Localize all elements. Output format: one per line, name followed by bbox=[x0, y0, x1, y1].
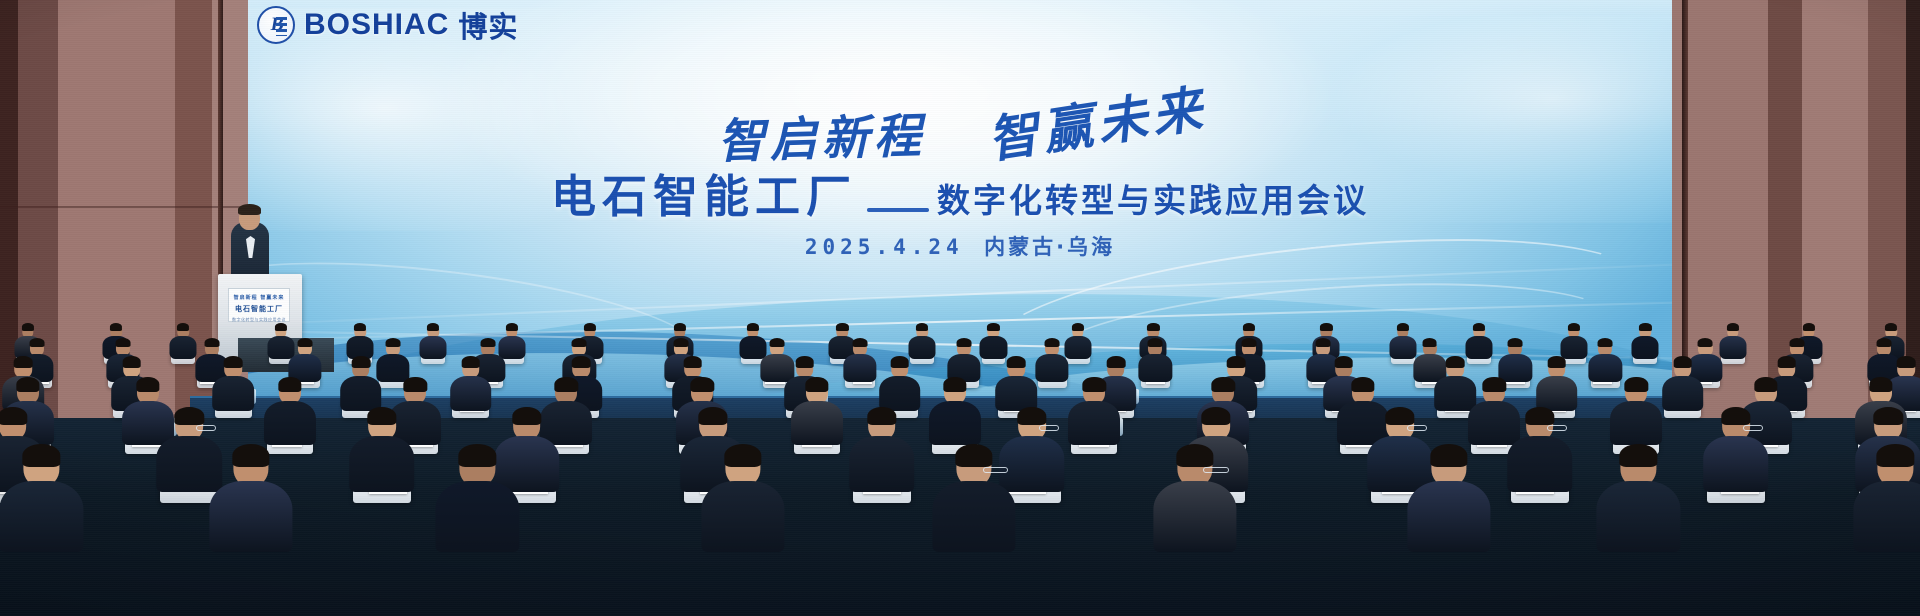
audience-torso bbox=[1703, 436, 1769, 491]
audience-torso bbox=[349, 436, 415, 491]
audience-member bbox=[0, 446, 83, 556]
eyeglasses bbox=[1039, 425, 1059, 431]
audience-torso bbox=[1139, 354, 1172, 382]
audience-hair bbox=[1525, 407, 1554, 425]
audience-hair bbox=[1242, 338, 1257, 347]
conference-title: 电石智能工厂 数字化转型与实践应用会议 bbox=[248, 160, 1672, 225]
podium-card-line-2: 电石智能工厂 bbox=[229, 304, 289, 314]
eyeglasses bbox=[1547, 425, 1567, 431]
audience-member bbox=[1719, 325, 1746, 361]
audience-torso bbox=[1507, 436, 1573, 491]
audience-hair bbox=[770, 338, 785, 347]
audience-member bbox=[929, 379, 981, 448]
audience-member bbox=[1536, 358, 1578, 413]
audience-hair bbox=[1201, 407, 1230, 425]
audience-hair bbox=[1385, 407, 1414, 425]
audience-hair bbox=[1334, 356, 1353, 368]
audience-member bbox=[1153, 446, 1236, 556]
audience-hair bbox=[1483, 377, 1506, 392]
audience-member bbox=[349, 409, 415, 496]
audience-torso bbox=[1499, 354, 1532, 382]
audience-member bbox=[1139, 340, 1172, 384]
audience-torso bbox=[879, 376, 921, 411]
audience-torso bbox=[1068, 401, 1120, 445]
audience-hair bbox=[0, 407, 27, 425]
audience-hair bbox=[836, 323, 848, 331]
audience-hair bbox=[1045, 338, 1060, 347]
audience-hair bbox=[853, 338, 868, 347]
audience-hair bbox=[691, 377, 714, 392]
audience-hair bbox=[916, 323, 928, 331]
audience-torso bbox=[1632, 336, 1659, 359]
audience-hair bbox=[1897, 356, 1916, 368]
audience-hair bbox=[506, 323, 518, 331]
audience-hair bbox=[16, 377, 39, 392]
audience-member bbox=[1589, 340, 1622, 384]
audience-member bbox=[436, 446, 519, 556]
audience-hair bbox=[1727, 323, 1739, 331]
wall-seam bbox=[0, 206, 248, 208]
audience-hair bbox=[1870, 377, 1893, 392]
audience-hair bbox=[1227, 356, 1246, 368]
audience-member bbox=[1068, 379, 1120, 448]
speaker-hair bbox=[238, 204, 261, 215]
audience-hair bbox=[1777, 356, 1796, 368]
audience-hair bbox=[955, 444, 992, 467]
audience-hair bbox=[572, 338, 587, 347]
audience-hair bbox=[110, 323, 122, 331]
audience-hair bbox=[890, 356, 909, 368]
slogan-gap bbox=[948, 151, 974, 152]
event-date: 2025.4.24 bbox=[805, 235, 964, 259]
audience-hair bbox=[1017, 407, 1046, 425]
audience-hair bbox=[1446, 356, 1465, 368]
audience-hair bbox=[1639, 323, 1651, 331]
audience-member bbox=[1662, 358, 1704, 413]
audience-hair bbox=[555, 377, 578, 392]
audience-torso bbox=[849, 436, 915, 491]
audience-hair bbox=[1547, 356, 1566, 368]
audience-hair bbox=[698, 407, 727, 425]
audience-torso bbox=[436, 481, 519, 551]
audience-hair bbox=[1212, 377, 1235, 392]
audience-hair bbox=[1877, 338, 1892, 347]
audience-hair bbox=[367, 407, 396, 425]
audience-member bbox=[932, 446, 1015, 556]
audience-member bbox=[1466, 325, 1493, 361]
audience-torso bbox=[932, 481, 1015, 551]
audience-hair bbox=[1422, 338, 1437, 347]
brand-english-name: BOSHIAC bbox=[304, 8, 449, 42]
event-meta: 2025.4.24 内蒙古·乌海 bbox=[248, 231, 1672, 261]
event-location: 内蒙古·乌海 bbox=[984, 235, 1115, 259]
audience-hair bbox=[1790, 338, 1805, 347]
audience-hair bbox=[1673, 356, 1692, 368]
audience-hair bbox=[459, 444, 496, 467]
audience-hair bbox=[1803, 323, 1815, 331]
audience-hair bbox=[1625, 377, 1648, 392]
audience-hair bbox=[724, 444, 761, 467]
boshiac-logo-icon: B bbox=[257, 6, 295, 44]
audience-hair bbox=[1072, 323, 1084, 331]
audience-hair bbox=[278, 377, 301, 392]
audience-hair bbox=[584, 323, 596, 331]
audience-torso bbox=[1719, 336, 1746, 359]
audience-hair bbox=[275, 323, 287, 331]
audience-torso bbox=[212, 376, 254, 411]
audience-hair bbox=[1316, 338, 1331, 347]
audience-member bbox=[1407, 446, 1490, 556]
audience-hair bbox=[1473, 323, 1485, 331]
audience-hair bbox=[956, 338, 971, 347]
audience-torso bbox=[1854, 481, 1920, 551]
audience-hair bbox=[746, 323, 758, 331]
audience-member bbox=[849, 409, 915, 496]
audience-hair bbox=[175, 407, 204, 425]
eyeglasses bbox=[1743, 425, 1763, 431]
audience-member bbox=[209, 446, 292, 556]
audience-member bbox=[909, 325, 936, 361]
audience-member bbox=[450, 358, 492, 413]
audience-torso bbox=[701, 481, 784, 551]
audience-hair bbox=[674, 323, 686, 331]
audience-hair bbox=[1148, 338, 1163, 347]
audience-member bbox=[340, 358, 382, 413]
audience-member bbox=[1597, 446, 1680, 556]
audience-torso bbox=[1466, 336, 1493, 359]
audience-member bbox=[1499, 340, 1532, 384]
audience-hair bbox=[204, 338, 219, 347]
audience-hair bbox=[404, 377, 427, 392]
audience-hair bbox=[1620, 444, 1657, 467]
brand-lockup: B BOSHIAC 博实 bbox=[251, 2, 524, 48]
audience-member bbox=[420, 325, 447, 361]
audience-hair bbox=[116, 338, 131, 347]
audience-torso bbox=[1597, 481, 1680, 551]
audience-hair bbox=[352, 356, 371, 368]
podium-signage: 智启新程 智赢未来 电石智能工厂 数字化转型与实践应用会议 bbox=[228, 288, 290, 322]
audience-torso bbox=[995, 376, 1037, 411]
audience-hair bbox=[795, 356, 814, 368]
audience-torso bbox=[420, 336, 447, 359]
audience-hair bbox=[673, 338, 688, 347]
audience-hair bbox=[122, 356, 141, 368]
audience-member bbox=[980, 325, 1007, 361]
audience-hair bbox=[354, 323, 366, 331]
audience-torso bbox=[909, 336, 936, 359]
audience-torso bbox=[264, 401, 316, 445]
title-separator-rule bbox=[867, 208, 929, 212]
audience-hair bbox=[386, 338, 401, 347]
audience-hair bbox=[21, 323, 33, 331]
audience-hair bbox=[461, 356, 480, 368]
audience-torso bbox=[1610, 401, 1662, 445]
audience-hair bbox=[1107, 356, 1126, 368]
audience-member bbox=[1632, 325, 1659, 361]
audience-torso bbox=[843, 354, 876, 382]
audience-hair bbox=[14, 356, 33, 368]
audience-member bbox=[212, 358, 254, 413]
audience-member bbox=[701, 446, 784, 556]
audience-torso bbox=[340, 376, 382, 411]
audience-hair bbox=[1397, 323, 1409, 331]
eyeglasses bbox=[983, 467, 1008, 473]
audience-hair bbox=[805, 377, 828, 392]
audience-member bbox=[170, 325, 197, 361]
audience-member bbox=[1560, 325, 1587, 361]
audience-torso bbox=[1536, 376, 1578, 411]
audience-hair bbox=[1147, 323, 1159, 331]
audience-hair bbox=[683, 356, 702, 368]
audience-hair bbox=[1007, 356, 1026, 368]
audience-hair bbox=[1083, 377, 1106, 392]
audience-hair bbox=[1242, 323, 1254, 331]
audience-torso bbox=[791, 401, 843, 445]
audience-torso bbox=[1036, 354, 1069, 382]
audience-hair bbox=[177, 323, 189, 331]
audience-hair bbox=[23, 444, 60, 467]
audience-torso bbox=[1153, 481, 1236, 551]
audience-hair bbox=[572, 356, 591, 368]
audience-hair bbox=[224, 356, 243, 368]
audience-torso bbox=[929, 401, 981, 445]
audience-hair bbox=[1176, 444, 1213, 467]
audience-hair bbox=[512, 407, 541, 425]
audience-torso bbox=[0, 481, 83, 551]
audience-hair bbox=[1754, 377, 1777, 392]
audience-torso bbox=[980, 336, 1007, 359]
audience-hair bbox=[1877, 444, 1914, 467]
audience-hair bbox=[1568, 323, 1580, 331]
audience-torso bbox=[1589, 354, 1622, 382]
audience-hair bbox=[1430, 444, 1467, 467]
audience-torso bbox=[170, 336, 197, 359]
audience-hair bbox=[1874, 407, 1903, 425]
conference-photo: B BOSHIAC 博实 智启新程 智赢未来 电石智能工厂 数字化转型与实践应用… bbox=[0, 0, 1920, 616]
audience-hair bbox=[1351, 377, 1374, 392]
audience-hair bbox=[1885, 323, 1897, 331]
audience-member bbox=[791, 379, 843, 448]
eyeglasses bbox=[196, 425, 216, 431]
audience-torso bbox=[209, 481, 292, 551]
audience-torso bbox=[1662, 376, 1704, 411]
logo-monogram: B bbox=[269, 14, 284, 36]
audience-torso bbox=[1407, 481, 1490, 551]
audience-hair bbox=[1721, 407, 1750, 425]
audience-hair bbox=[867, 407, 896, 425]
brand-chinese-name: 博实 bbox=[458, 4, 518, 46]
audience-hair bbox=[987, 323, 999, 331]
title-main: 电石智能工厂 bbox=[551, 160, 857, 225]
audience-hair bbox=[1698, 338, 1713, 347]
audience-hair bbox=[943, 377, 966, 392]
audience-hair bbox=[136, 377, 159, 392]
audience-hair bbox=[481, 338, 496, 347]
audience-member bbox=[843, 340, 876, 384]
podium-card-line-1: 智启新程 智赢未来 bbox=[229, 294, 289, 301]
audience-member bbox=[1610, 379, 1662, 448]
audience-hair bbox=[29, 338, 44, 347]
audience-hair bbox=[427, 323, 439, 331]
audience-torso bbox=[1560, 336, 1587, 359]
audience-member bbox=[1036, 340, 1069, 384]
audience-hair bbox=[298, 338, 313, 347]
audience-member bbox=[1703, 409, 1769, 496]
audience-member bbox=[995, 358, 1037, 413]
audience-hair bbox=[1508, 338, 1523, 347]
title-subtitle: 数字化转型与实践应用会议 bbox=[937, 174, 1369, 222]
audience-member bbox=[1854, 446, 1920, 556]
audience-torso bbox=[450, 376, 492, 411]
audience-member bbox=[264, 379, 316, 448]
audience-hair bbox=[1598, 338, 1613, 347]
audience-member bbox=[1507, 409, 1573, 496]
eyeglasses bbox=[1203, 467, 1228, 473]
audience-hair bbox=[1320, 323, 1332, 331]
audience-member bbox=[879, 358, 921, 413]
eyeglasses bbox=[1407, 425, 1427, 431]
audience-hair bbox=[232, 444, 269, 467]
